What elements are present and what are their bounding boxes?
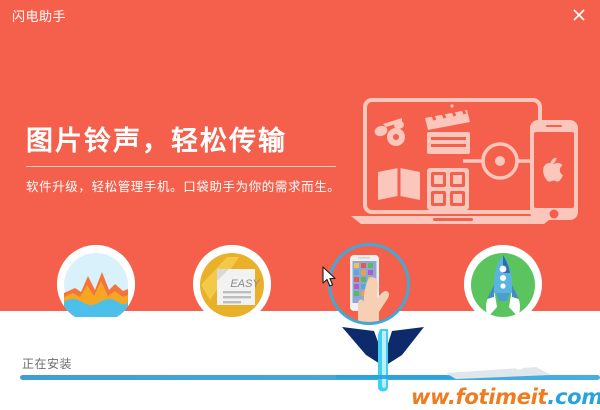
watermark-logo-icon: 清源下载站 bbox=[336, 325, 600, 401]
progress-bar-fill bbox=[20, 375, 600, 380]
close-icon[interactable] bbox=[570, 6, 588, 24]
title-bar: 闪电助手 bbox=[0, 0, 600, 30]
headline-divider bbox=[26, 166, 336, 167]
progress-bar-track bbox=[20, 375, 600, 380]
feature-icon-rocket[interactable] bbox=[464, 245, 542, 323]
feature-icon-row: EASY bbox=[0, 243, 600, 329]
laptop-to-phone-transfer-illustration bbox=[345, 88, 590, 228]
watermark-url-part-2: .com bbox=[547, 385, 600, 409]
window-title: 闪电助手 bbox=[12, 6, 66, 25]
headline-block: 图片铃声，轻松传输 软件升级，轻松管理手机。口袋助手为你的需求而生。 bbox=[26, 126, 346, 195]
page-title: 图片铃声，轻松传输 bbox=[26, 126, 346, 157]
site-watermark: 清源下载站 ww.fotimeit.com bbox=[336, 325, 600, 410]
feature-icon-waves[interactable] bbox=[57, 245, 135, 323]
install-status-text: 正在安装 bbox=[22, 355, 72, 372]
watermark-site-name: 清源下载站 bbox=[436, 334, 600, 374]
watermark-url-part-1: ww.fotimeit bbox=[411, 385, 547, 409]
page-subtitle: 软件升级，轻松管理手机。口袋助手为你的需求而生。 bbox=[26, 176, 346, 195]
easy-document-label: EASY bbox=[230, 278, 260, 290]
installer-window: 闪电助手 图片铃声，轻松传输 软件升级，轻松管理手机。口袋助手为你的需求而生。 bbox=[0, 0, 600, 410]
feature-icon-easy-document[interactable]: EASY bbox=[193, 245, 271, 323]
feature-icon-hand-holding-phone[interactable] bbox=[328, 243, 410, 325]
watermark-url: ww.fotimeit.com bbox=[411, 385, 600, 409]
